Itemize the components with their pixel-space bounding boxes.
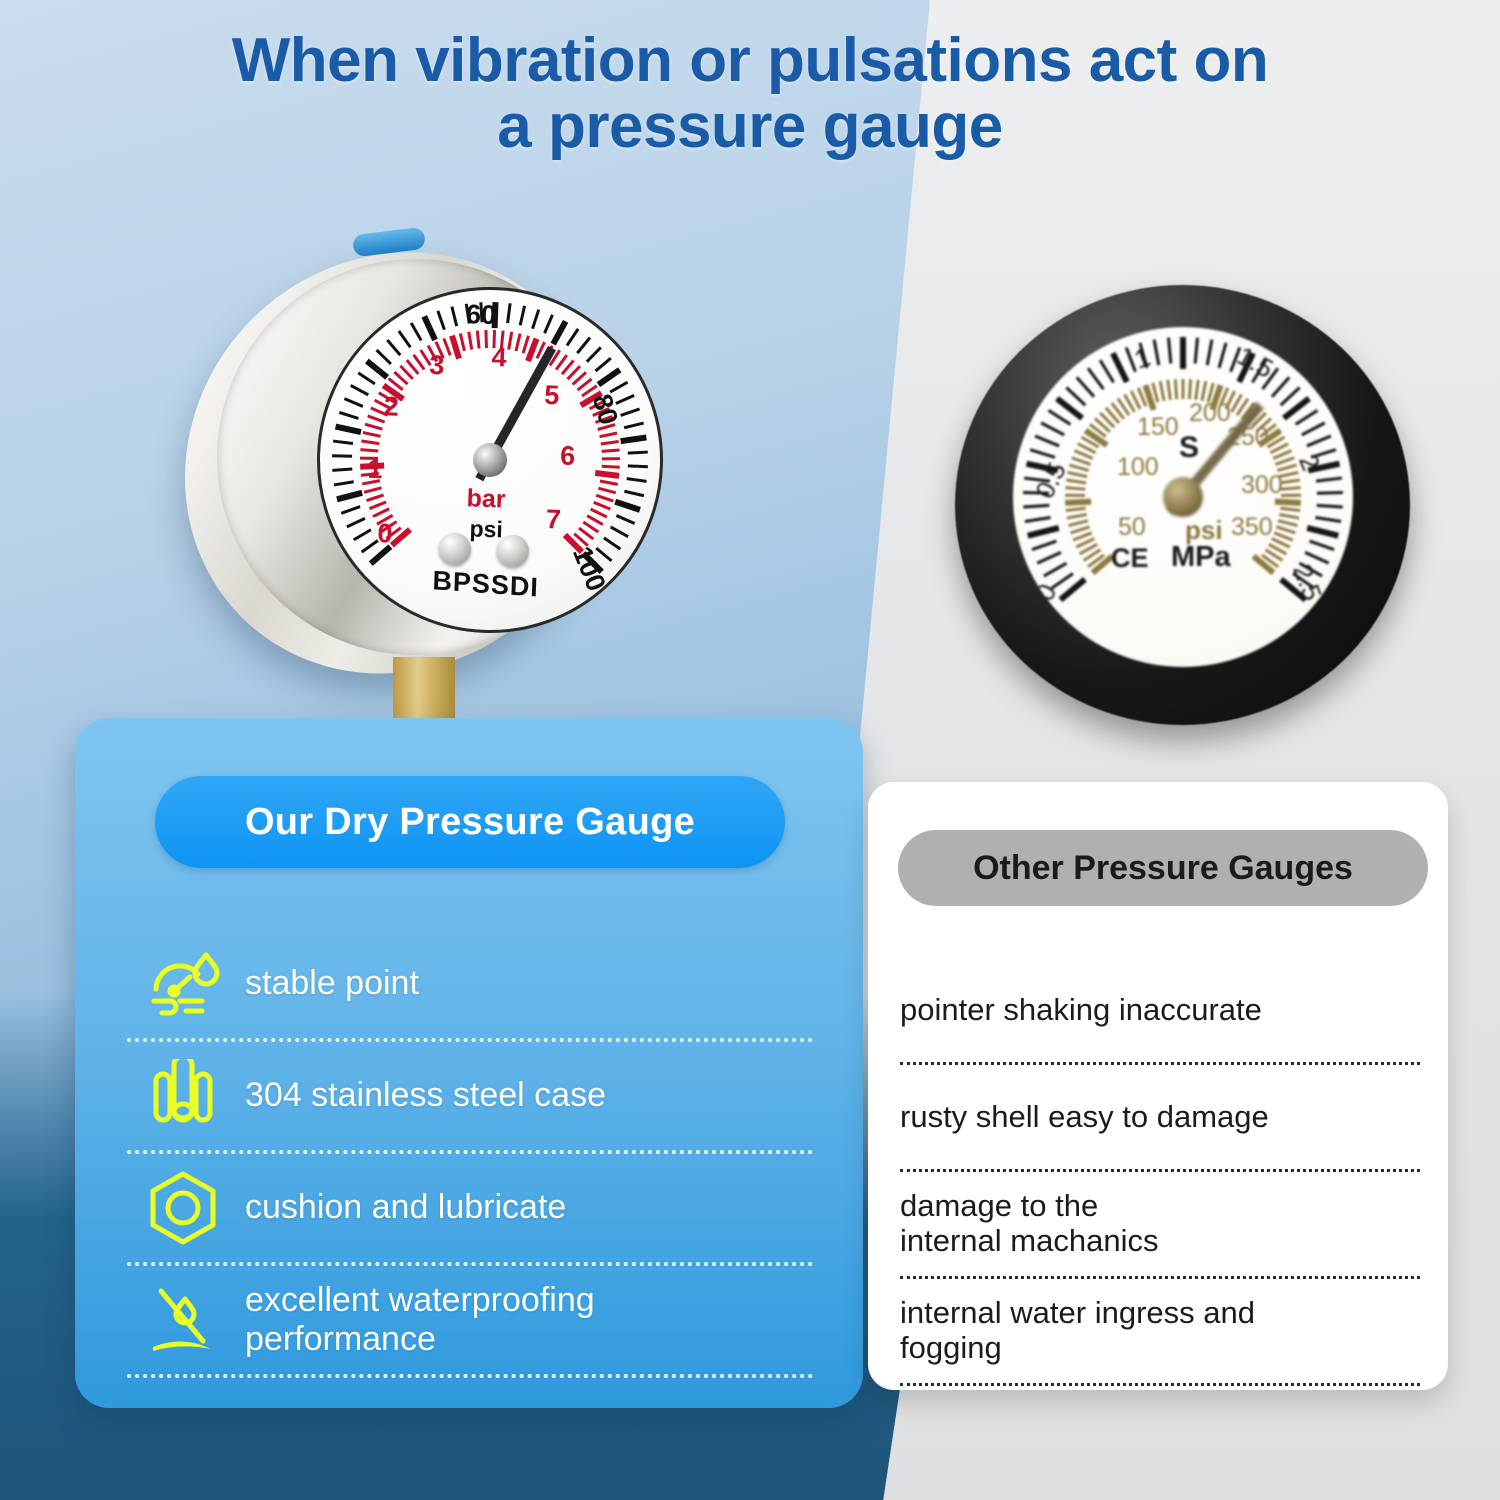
feature-list: stable point 304 stainless steel case (127, 930, 813, 1378)
bar-label-5: 5 (544, 380, 560, 412)
drawback-list: pointer shaking inaccurate rusty shell e… (900, 958, 1420, 1386)
bar-label-1: 1 (367, 454, 383, 486)
feature-item: stable point (127, 930, 813, 1042)
bar-label-4: 4 (491, 342, 507, 374)
our-gauge-panel: Our Dry Pressure Gauge stable point (75, 718, 863, 1408)
gauge-droplet-icon (127, 949, 239, 1019)
title-line-2: a pressure gauge (0, 94, 1500, 160)
our-gauge-header-label: Our Dry Pressure Gauge (245, 801, 695, 844)
unit-psi-label: psi (469, 515, 503, 543)
waterproof-icon (127, 1283, 239, 1357)
drawback-item: pointer shaking inaccurate (900, 958, 1420, 1065)
hex-nut-icon (127, 1170, 239, 1246)
drawback-item: internal water ingress andfogging (900, 1279, 1420, 1386)
psi-label-150: 150 (1137, 413, 1179, 442)
other-gauges-panel: Other Pressure Gauges pointer shaking in… (868, 782, 1448, 1390)
drawback-label: pointer shaking inaccurate (900, 993, 1262, 1028)
bar-label-3: 3 (429, 350, 445, 382)
dry-pressure-gauge-image: 60 80 100 0 1 2 3 4 5 6 7 bar psi BPSSDI (185, 225, 655, 695)
psi-label-200: 200 (1189, 399, 1231, 428)
unit-bar-label: bar (466, 484, 506, 514)
bar-label-6: 6 (560, 440, 576, 472)
other-gauges-header-pill: Other Pressure Gauges (898, 830, 1428, 906)
feature-label: stable point (239, 964, 419, 1003)
drawback-label: internal water ingress andfogging (900, 1296, 1255, 1365)
bar-label-0: 0 (377, 518, 393, 550)
bar-label-7: 7 (545, 504, 561, 536)
bar-label-2: 2 (383, 391, 399, 423)
gauge-dial-face-blurred: 0 0.5 1 1.5 2 2.5 50 100 150 200 250 300… (1013, 327, 1353, 667)
psi-label-350: 350 (1231, 513, 1273, 542)
psi-label-60: 60 (466, 299, 497, 331)
feature-item: cushion and lubricate (127, 1154, 813, 1266)
drawback-label: rusty shell easy to damage (900, 1100, 1269, 1135)
psi-label-50: 50 (1118, 513, 1146, 542)
feature-item: excellent waterproofingperformance (127, 1266, 813, 1378)
drawback-label: damage to theinternal machanics (900, 1189, 1158, 1258)
feature-label: excellent waterproofingperformance (239, 1281, 595, 1359)
other-pressure-gauge-image: 0 0.5 1 1.5 2 2.5 50 100 150 200 250 300… (955, 285, 1425, 745)
ce-mark-icon: CE (1111, 543, 1149, 574)
gauge-needle-hub (1163, 477, 1203, 517)
psi-label-100: 100 (1117, 453, 1159, 482)
unit-mpa-label: MPa (1171, 541, 1231, 574)
feature-label: cushion and lubricate (239, 1188, 566, 1227)
our-gauge-header-pill: Our Dry Pressure Gauge (155, 776, 785, 868)
gauge-dial-face: 60 80 100 0 1 2 3 4 5 6 7 bar psi BPSSDI (311, 281, 669, 639)
other-gauges-header-label: Other Pressure Gauges (973, 849, 1353, 888)
steel-tubes-icon (127, 1059, 239, 1133)
page-title: When vibration or pulsations act on a pr… (0, 28, 1500, 159)
drawback-item: rusty shell easy to damage (900, 1065, 1420, 1172)
feature-label: 304 stainless steel case (239, 1076, 606, 1115)
title-line-1: When vibration or pulsations act on (0, 28, 1500, 94)
s-mark: S (1179, 431, 1199, 465)
psi-label-300: 300 (1241, 471, 1283, 500)
feature-item: 304 stainless steel case (127, 1042, 813, 1154)
drawback-item: damage to theinternal machanics (900, 1172, 1420, 1279)
